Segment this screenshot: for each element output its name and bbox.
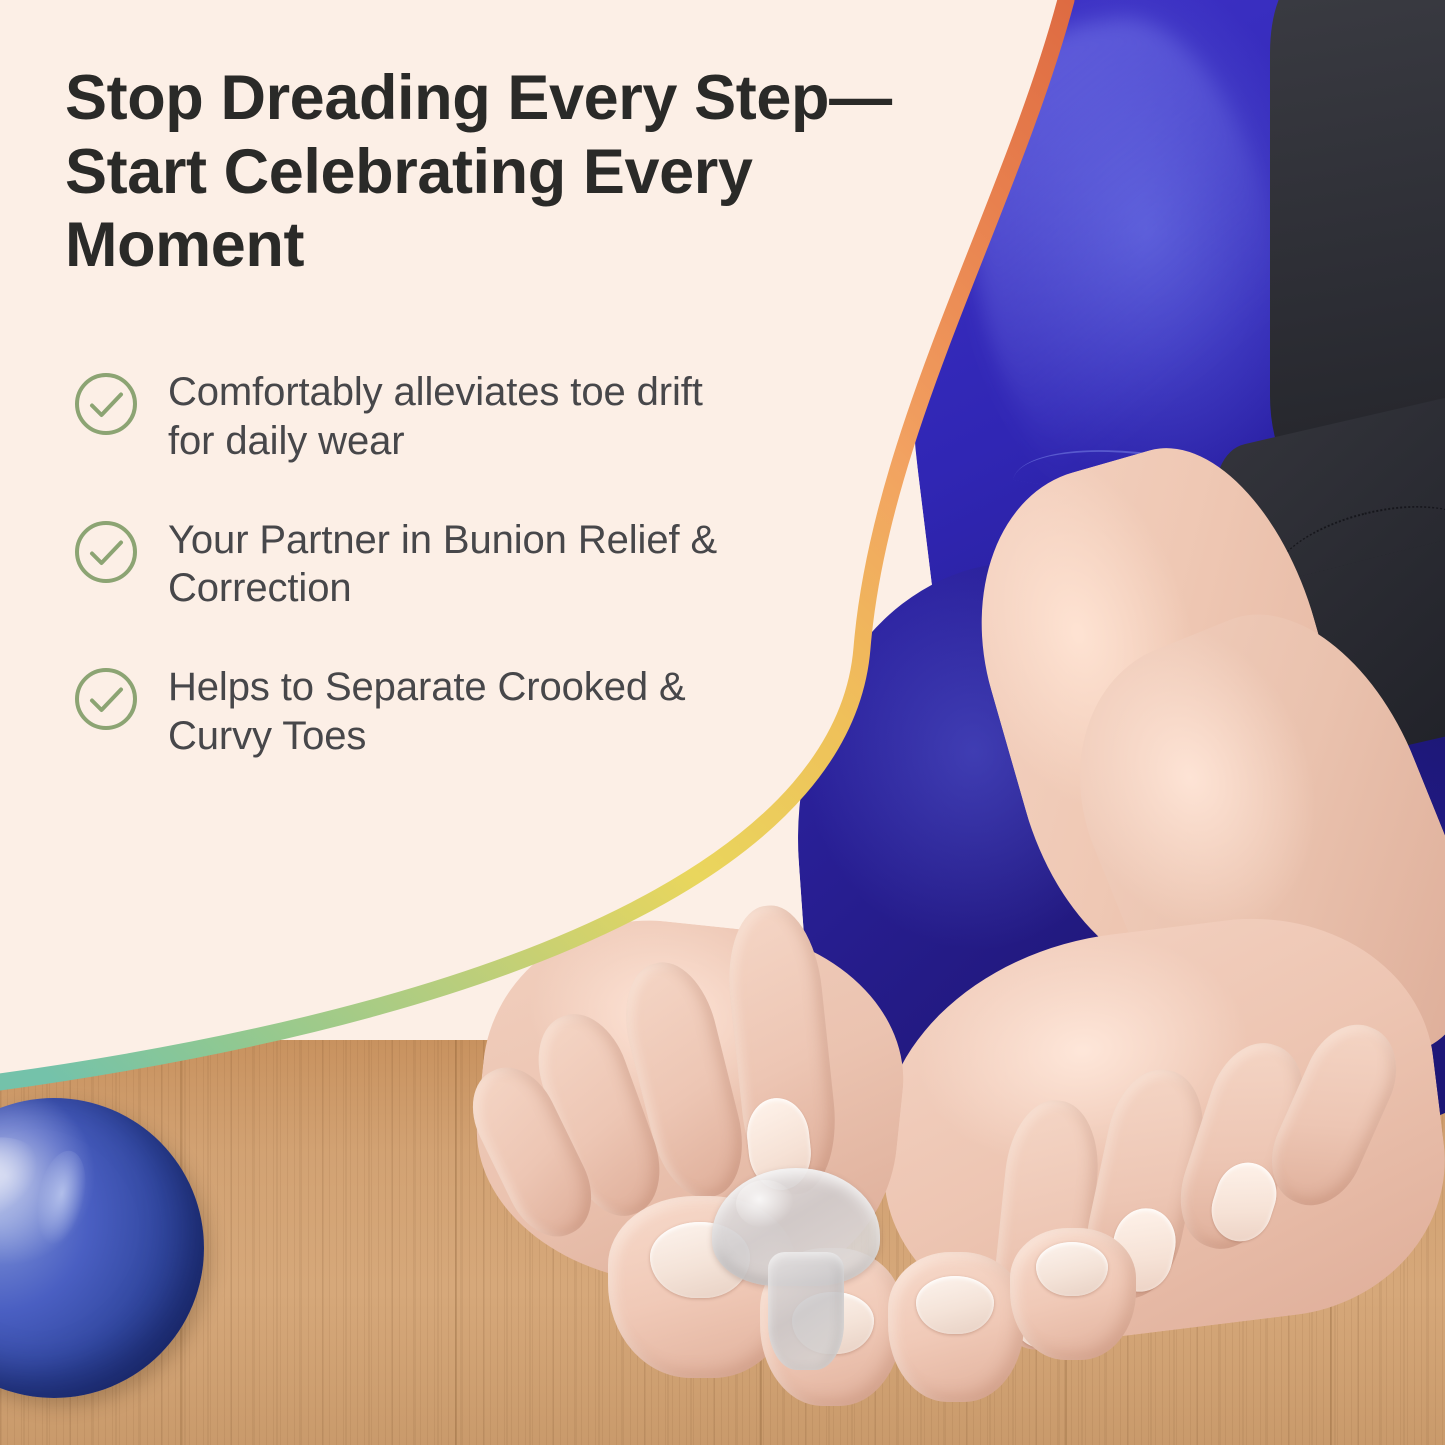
- page-title: Stop Dreading Every Step—Start Celebrati…: [65, 62, 925, 283]
- benefit-text: Helps to Separate Crooked & Curvy Toes: [168, 663, 752, 761]
- benefits-list: Comfortably alleviates toe drift for dai…: [72, 368, 752, 761]
- benefit-text: Your Partner in Bunion Relief & Correcti…: [168, 516, 752, 614]
- check-circle-icon: [72, 370, 140, 438]
- list-item: Your Partner in Bunion Relief & Correcti…: [72, 516, 752, 614]
- list-item: Comfortably alleviates toe drift for dai…: [72, 368, 752, 466]
- check-circle-icon: [72, 518, 140, 586]
- product-feature-image: Stop Dreading Every Step—Start Celebrati…: [0, 0, 1445, 1445]
- check-circle-icon: [72, 665, 140, 733]
- list-item: Helps to Separate Crooked & Curvy Toes: [72, 663, 752, 761]
- benefit-text: Comfortably alleviates toe drift for dai…: [168, 368, 752, 466]
